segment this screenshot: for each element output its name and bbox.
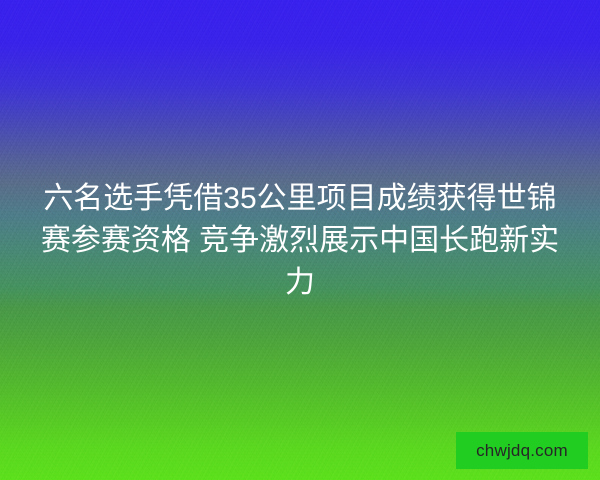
image-card: 六名选手凭借35公里项目成绩获得世锦赛参赛资格 竞争激烈展示中国长跑新实力 ch… bbox=[0, 0, 600, 480]
watermark-label: chwjdq.com bbox=[476, 441, 568, 461]
watermark-badge[interactable]: chwjdq.com bbox=[456, 432, 588, 469]
headline-block: 六名选手凭借35公里项目成绩获得世锦赛参赛资格 竞争激烈展示中国长跑新实力 bbox=[37, 178, 563, 304]
headline-text: 六名选手凭借35公里项目成绩获得世锦赛参赛资格 竞争激烈展示中国长跑新实力 bbox=[37, 178, 563, 304]
